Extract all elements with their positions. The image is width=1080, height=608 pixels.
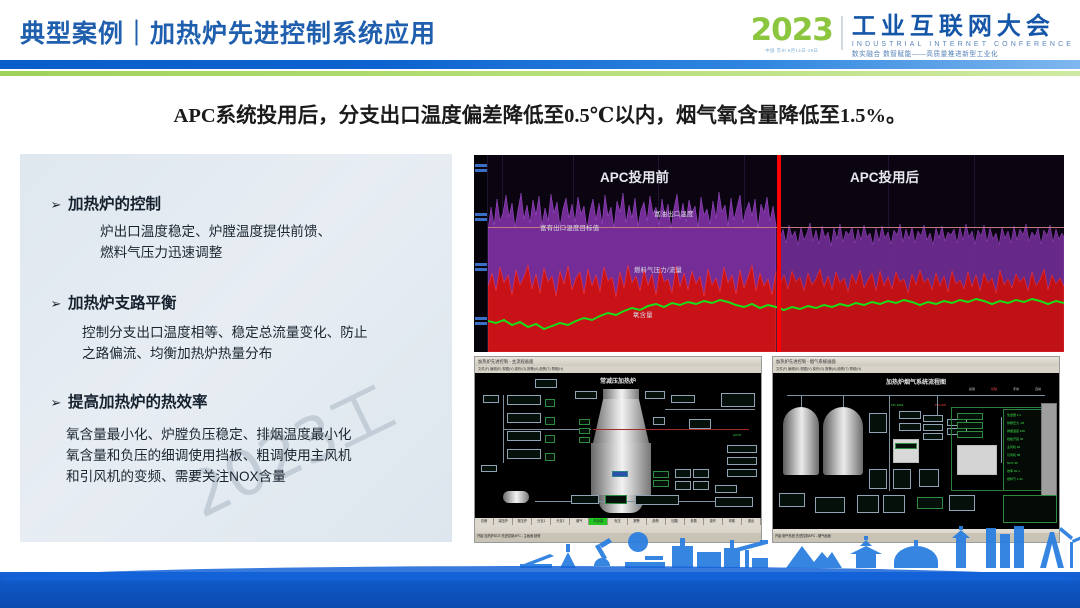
dcs-left-tab-10[interactable]: 回路 (666, 518, 685, 525)
furnace-body (591, 443, 651, 495)
bottom-ctrl-2[interactable] (605, 495, 627, 504)
logo-year: 2023 (751, 14, 833, 46)
mountain-icon (786, 546, 842, 568)
crane-icon (736, 540, 768, 568)
dcs-left-tabbar[interactable]: 总貌 减压炉 常压炉 分支1 分支2 烟气 氧含量 负压 报警 趋势 回路 参数… (475, 518, 761, 525)
legend-2: 切除 (991, 387, 997, 391)
right-tag-3[interactable] (957, 431, 983, 438)
left-probe-2[interactable] (579, 428, 590, 434)
dcs-left-tab-2[interactable]: 常压炉 (513, 518, 532, 525)
right-tag-5[interactable] (727, 469, 757, 477)
tank-2 (823, 407, 863, 475)
legend-3: 手动 (1013, 387, 1019, 391)
trend-y-axis (474, 155, 488, 352)
bullets-panel: 2023工 ➢ 加热炉的控制 炉出口温度稳定、炉膛温度提供前馈、 燃料气压力迅速… (20, 154, 452, 542)
top-tag-3[interactable] (645, 391, 665, 399)
bottom-ctrl-4[interactable] (715, 497, 753, 507)
header-bar-green (0, 71, 1080, 76)
center-block-1[interactable] (869, 413, 887, 433)
top-tag-5[interactable] (721, 393, 755, 407)
trend-plot-area: APC投用前 APC投用后 富有出口温度目标值 富油出口温度 燃料气压力/流量 … (488, 155, 1064, 352)
dcs-right-heading: 加热炉烟气系统流程图 (773, 377, 1059, 386)
center-block-4[interactable] (869, 469, 887, 489)
center-equipment-tag[interactable] (895, 443, 917, 449)
label-after-apc: APC投用后 (850, 166, 919, 186)
arrow-right-icon: ➢ (48, 197, 64, 213)
top-signal-line (665, 409, 755, 410)
label-before-apc: APC投用前 (600, 166, 669, 186)
pagoda-icon (850, 536, 882, 568)
robot-arm-icon (594, 538, 612, 566)
page-title: 典型案例｜加热炉先进控制系统应用 (20, 14, 436, 50)
center-block-2[interactable] (899, 411, 921, 419)
top-header-pipe (787, 395, 1045, 396)
bottom-mid-tag-1[interactable] (857, 495, 879, 513)
y-tick (475, 317, 487, 320)
mid-tag-3[interactable] (923, 433, 943, 440)
flow-tag-3[interactable] (545, 435, 555, 443)
bottom-data-panel[interactable] (1003, 495, 1057, 523)
right-riser (937, 395, 938, 415)
dcs-right-titlebar: 加热炉先进控制 - 烟气系统画面 (773, 357, 1059, 366)
legend-1: 投用 (969, 387, 975, 391)
dcs-left-tab-1[interactable]: 减压炉 (494, 518, 513, 525)
bullet-group-3: ➢ 提高加热炉的热效率 氧含量最小化、炉膛负压稳定、排烟温度最小化 氧含量和负压… (20, 390, 452, 487)
flow-tag-1[interactable] (545, 399, 555, 407)
dcs-left-tab-6[interactable]: 氧含量 (589, 518, 608, 525)
drum-vessel (503, 491, 529, 503)
dcs-left-tab-11[interactable]: 参数 (685, 518, 704, 525)
dcs-left-tab-7[interactable]: 负压 (608, 518, 627, 525)
bullet-body-3-line-2: 氧含量和负压的细调使用挡板、粗调使用主风机 (20, 445, 452, 466)
dcs-screenshot-right[interactable]: 加热炉先进控制 - 烟气系统画面 文件(F) 编辑(E) 视图(V) 操作(O)… (772, 356, 1060, 543)
bottom-wave-band (0, 572, 1080, 608)
right-tag-4[interactable] (727, 457, 757, 465)
logo-divider (841, 16, 843, 50)
dcs-screenshot-left[interactable]: 加热炉先进控制 - 主流程画面 文件(F) 编辑(E) 视图(V) 操作(O) … (474, 356, 762, 543)
dcs-left-tab-4[interactable]: 分支2 (551, 518, 570, 525)
bullet-body-3-line-1: 氧含量最小化、炉膛负压稳定、排烟温度最小化 (20, 424, 452, 445)
logo-text-block: 工业互联网大会 INDUSTRIAL INTERNET CONFERENCE 数… (852, 14, 1074, 59)
logo-date: 中国·苏州 8月14日-18日 (765, 48, 818, 54)
left-bottom-tag[interactable] (481, 465, 497, 472)
mid-tag-1[interactable] (923, 415, 943, 422)
right-tag-1[interactable] (957, 413, 983, 420)
bottom-tag-6[interactable] (693, 481, 709, 490)
bottom-left-tag[interactable] (779, 493, 805, 507)
bullet-group-1: ➢ 加热炉的控制 炉出口温度稳定、炉膛温度提供前馈、 燃料气压力迅速调整 (20, 192, 452, 263)
legend-4: 自动 (1035, 387, 1041, 391)
annotation-green-series: 氧含量 (633, 310, 653, 319)
mid-tag-6[interactable] (919, 469, 939, 487)
top-tag-4[interactable] (671, 395, 695, 403)
header-divider (0, 60, 1080, 76)
bottom-ctrl-1[interactable] (571, 495, 599, 504)
tower-icon (952, 526, 970, 568)
logo-subtitle: 数实融合 数智赋能——高质量推进新型工业化 (852, 50, 1074, 59)
dcs-left-tab-9[interactable]: 趋势 (647, 518, 666, 525)
bullet-body-1-line-1: 炉出口温度稳定、炉膛温度提供前馈、 (20, 221, 452, 242)
right-tag-2[interactable] (689, 419, 711, 429)
dcs-left-titlebar: 加热炉先进控制 - 主流程画面 (475, 357, 761, 366)
control-block-3[interactable] (507, 431, 541, 441)
slide-root: 典型案例｜加热炉先进控制系统应用 2023 中国·苏州 8月14日-18日 工业… (0, 0, 1080, 608)
right-tag-1[interactable] (653, 417, 665, 425)
lead-sentence: APC系统投用后，分支出口温度偏差降低至0.5℃以内，烟气氧含量降低至1.5%。 (0, 98, 1080, 128)
bullet-heading-3-label: 提高加热炉的热效率 (68, 390, 208, 412)
trend-series-svg (488, 155, 1064, 352)
dcs-left-canvas[interactable]: 常减压加热炉 (475, 373, 761, 520)
dcs-left-tab-13[interactable]: 帮助 (723, 518, 742, 525)
annotation-red-series: 燃料气压力/流量 (634, 265, 682, 274)
tank-1-vent (801, 395, 802, 407)
bullet-heading-1: ➢ 加热炉的控制 (20, 192, 452, 214)
annotation-purple-series: 富油出口温度 (654, 209, 694, 218)
skyscraper-icon (986, 526, 1024, 568)
dcs-left-tab-3[interactable]: 分支1 (532, 518, 551, 525)
left-probe-3[interactable] (579, 437, 590, 443)
top-tag-2[interactable] (575, 391, 597, 399)
mid-tag-2[interactable] (923, 424, 943, 431)
logo-year-block: 2023 中国·苏州 8月14日-18日 (751, 14, 841, 54)
bullet-heading-2: ➢ 加热炉支路平衡 (20, 291, 452, 313)
dcs-left-tab-5[interactable]: 烟气 (570, 518, 589, 525)
series-red-after (780, 269, 1064, 352)
dcs-left-heading: 常减压加热炉 (475, 376, 761, 385)
apc-divider-line (777, 155, 781, 352)
right-tag-3[interactable] (727, 445, 757, 453)
bottom-mid-tag-3[interactable] (917, 497, 943, 509)
furnace-stack (603, 389, 639, 399)
dcs-left-tab-0[interactable]: 总貌 (475, 518, 494, 525)
right-equipment (957, 445, 997, 475)
center-riser (889, 395, 890, 491)
bullet-heading-1-label: 加热炉的控制 (68, 192, 161, 214)
flow-tag-4[interactable] (545, 453, 555, 461)
dcs-right-canvas[interactable]: 加热炉烟气系统流程图 FIC-1001 PIC-200 (773, 373, 1059, 531)
tank-1 (783, 407, 819, 475)
bottom-tag-7[interactable] (715, 485, 737, 493)
furnace-cone (593, 399, 649, 443)
bullet-group-2: ➢ 加热炉支路平衡 控制分支出口温度相等、稳定总流量变化、防止 之路偏流、均衡加… (20, 291, 452, 364)
inlet-tag[interactable] (483, 395, 499, 403)
logo-name-cn: 工业互联网大会 (852, 14, 1074, 40)
bullet-body-3-line-3: 和引风机的变频、需要关注NOX含量 (20, 466, 452, 487)
y-tick (475, 218, 487, 221)
annotation-target: 富有出口温度目标值 (540, 223, 599, 232)
top-tag-1[interactable] (535, 379, 557, 388)
flow-tag-2[interactable] (545, 417, 555, 425)
dcs-right-menubar[interactable]: 文件(F) 编辑(E) 视图(V) 操作(O) 报警(A) 趋势(T) 帮助(H… (773, 366, 1059, 373)
center-block-3[interactable] (899, 423, 921, 431)
tank-2-vent (843, 395, 844, 407)
bottom-ctrl-3[interactable] (635, 495, 679, 505)
bottom-mid-tag-2[interactable] (883, 495, 905, 513)
valve-icon (625, 532, 665, 568)
red-signal-line (593, 429, 749, 430)
bottom-tag-1[interactable] (653, 471, 669, 478)
y-tick (475, 263, 487, 266)
bottom-mid-tag-4[interactable] (949, 495, 975, 511)
bottom-tag-2[interactable] (653, 480, 669, 487)
bottom-tag-4[interactable] (693, 469, 709, 478)
dcs-left-menubar[interactable]: 文件(F) 编辑(E) 视图(V) 操作(O) 报警(A) 趋势(T) 帮助(H… (475, 366, 761, 373)
dcs-left-tab-14[interactable]: 退出 (742, 518, 761, 525)
arrow-right-icon: ➢ (48, 296, 64, 312)
bullet-body-2-line-1: 控制分支出口温度相等、稳定总流量变化、防止 (20, 322, 452, 343)
dome-icon (894, 540, 938, 568)
y-tick (475, 322, 487, 325)
y-tick (475, 268, 487, 271)
right-tag-2[interactable] (957, 422, 983, 429)
bottom-left-tag-2[interactable] (815, 497, 845, 513)
y-tick (475, 213, 487, 216)
y-tick (475, 164, 487, 167)
oil-derrick-icon (560, 544, 576, 568)
bullet-body-1-line-2: 燃料气压力迅速调整 (20, 242, 452, 263)
bullet-body-2-line-2: 之路偏流、均衡加热炉热量分布 (20, 343, 452, 364)
control-block-1[interactable] (507, 395, 541, 405)
factory-icon (672, 538, 740, 568)
y-tick (475, 169, 487, 172)
furnace-burner (612, 471, 628, 477)
dcs-left-tab-12[interactable]: 操作 (704, 518, 723, 525)
trend-chart: APC投用前 APC投用后 富有出口温度目标值 富油出口温度 燃料气压力/流量 … (474, 155, 1064, 352)
right-connector (1001, 417, 1002, 463)
dcs-left-tab-8[interactable]: 报警 (628, 518, 647, 525)
bullet-heading-3: ➢ 提高加热炉的热效率 (20, 390, 452, 412)
bullet-heading-2-label: 加热炉支路平衡 (68, 291, 177, 313)
logo-name-en: INDUSTRIAL INTERNET CONFERENCE (852, 40, 1074, 50)
control-block-2[interactable] (507, 413, 541, 423)
bottom-tag-3[interactable] (675, 469, 691, 478)
connector-to-furnace (503, 429, 591, 430)
left-probe-1[interactable] (579, 419, 590, 425)
center-block-5[interactable] (893, 469, 911, 489)
control-block-4[interactable] (507, 449, 541, 459)
bottom-tag-5[interactable] (675, 481, 691, 490)
arrow-right-icon: ➢ (48, 395, 64, 411)
eiffel-icon (1040, 532, 1064, 568)
conference-logo: 2023 中国·苏州 8月14日-18日 工业互联网大会 INDUSTRIAL … (751, 14, 1074, 62)
